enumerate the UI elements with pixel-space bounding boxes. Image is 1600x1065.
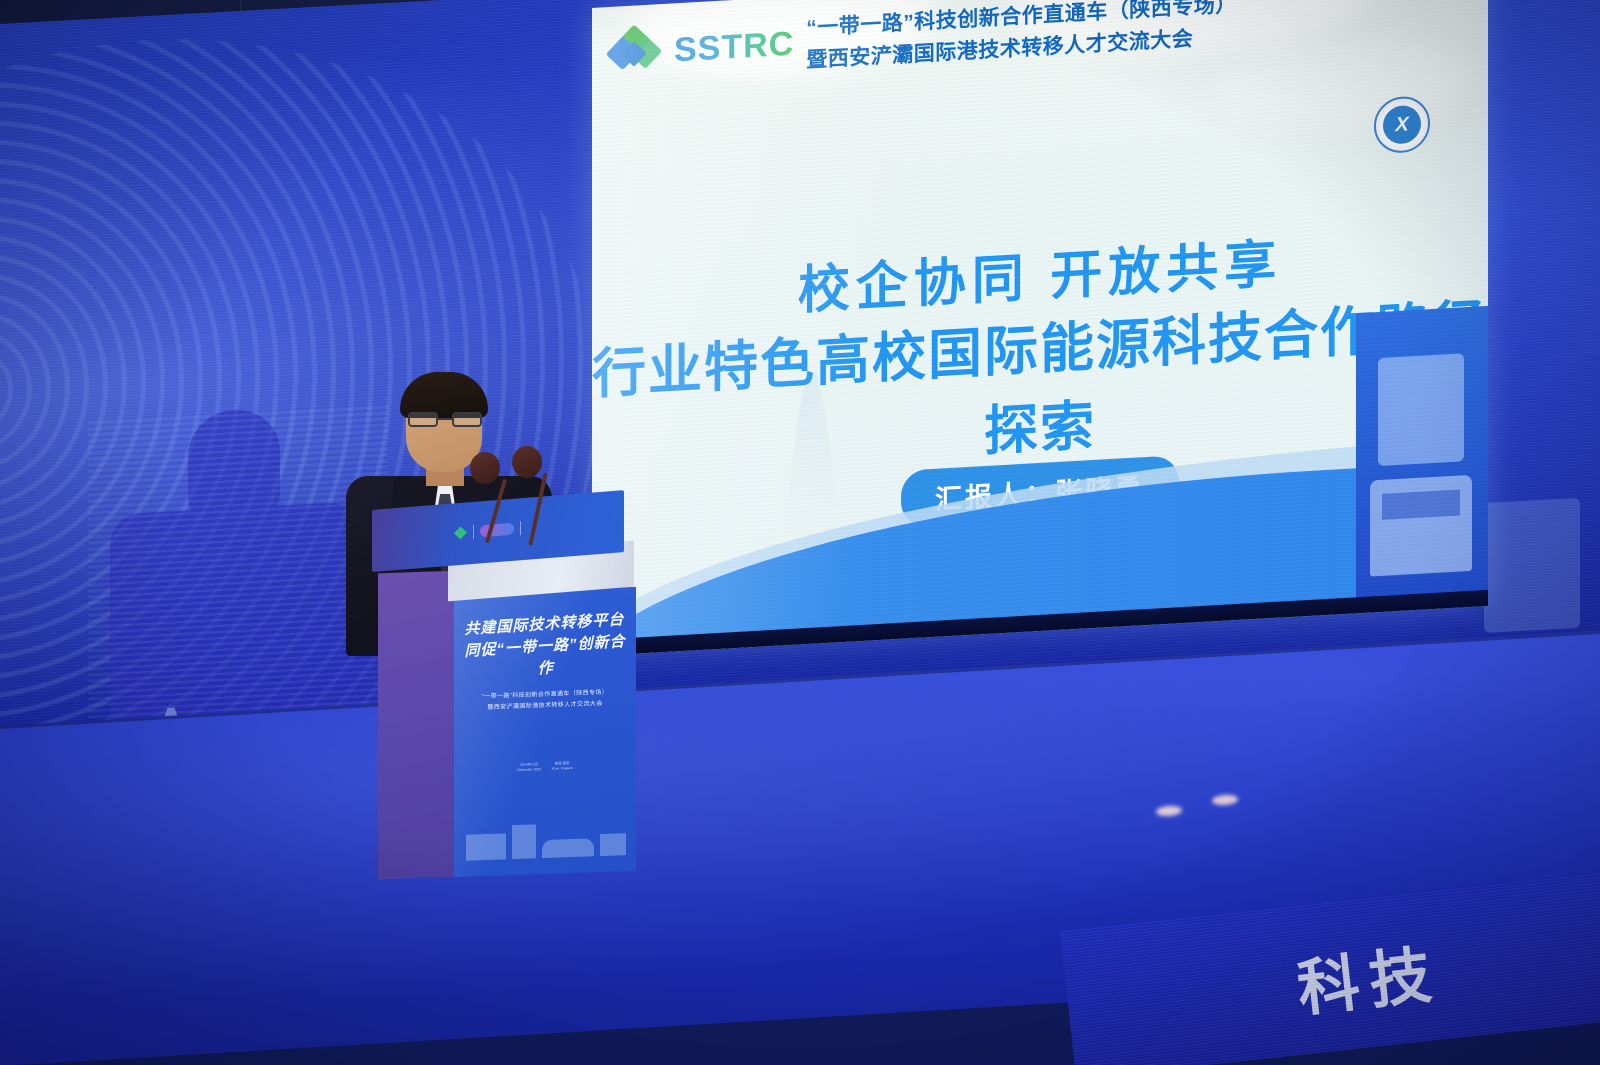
sstrc-wordmark: SSTRC: [674, 24, 794, 70]
podium-city-en: Xi'an, Shaanxi: [551, 766, 573, 772]
conference-stage-photo: SSTRC “一带一路”科技创新合作直通车（陕西专场） 暨西安浐灞国际港技术转移…: [0, 0, 1600, 1065]
slide-right-graphic-block: [1356, 306, 1488, 613]
podium-city-cn: 陕西·西安: [551, 761, 573, 767]
podium-calligraphy-line1: 共建国际技术转移平台: [463, 609, 626, 641]
podium-calligraphy: 共建国际技术转移平台 同促“一带一路”创新合作: [463, 609, 627, 684]
podium-logo-icon: [454, 526, 467, 540]
podium-city-silhouette: [454, 809, 636, 867]
podium: 共建国际技术转移平台 同促“一带一路”创新合作 “一带一路”科技创新合作直通车（…: [372, 500, 642, 890]
podium-subtitle-line2: 暨西安浐灞国际港技术转移人才交流大会: [462, 698, 628, 715]
stage-led-partial-text: 科技: [1292, 923, 1445, 1028]
xian-shiyou-university-emblem: X: [1374, 95, 1430, 154]
microphone-right: [512, 446, 572, 526]
podium-front-panel: 共建国际技术转移平台 同促“一带一路”创新合作 “一带一路”科技创新合作直通车（…: [454, 587, 636, 877]
podium-date-cn: 2024年12月: [517, 762, 541, 768]
podium-date-en: December 2024: [517, 768, 541, 774]
podium-date-location: 2024年12月 December 2024 陕西·西安 Xi'an, Shaa…: [462, 759, 628, 776]
speaker-glasses: [408, 412, 482, 427]
sstrc-diamond-logo: [606, 23, 662, 82]
podium-subtitle-line1: “一带一路”科技创新合作直通车（陕西专场）: [462, 687, 628, 704]
projection-screen-slide: SSTRC “一带一路”科技创新合作直通车（陕西专场） 暨西安浐灞国际港技术转移…: [592, 0, 1488, 656]
podium-calligraphy-line2: 同促“一带一路”创新合作: [464, 631, 627, 685]
emblem-monogram: X: [1383, 105, 1421, 145]
podium-subtitle: “一带一路”科技创新合作直通车（陕西专场） 暨西安浐灞国际港技术转移人才交流大会: [462, 687, 628, 716]
podium-side-panel: [378, 571, 458, 880]
